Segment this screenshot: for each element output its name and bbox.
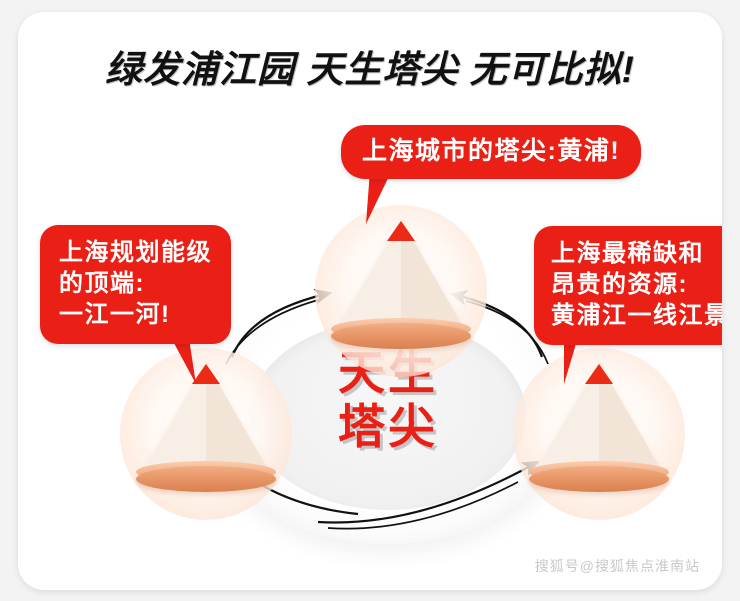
callout-left[interactable]: 上海规划能级 的顶端: 一江一河! (40, 225, 231, 344)
cone-right (513, 348, 685, 520)
page-title: 绿发浦江园 天生塔尖 无可比拟! (18, 48, 722, 92)
cone-tip-icon (387, 221, 415, 241)
watermark: 搜狐号@搜狐焦点淮南站 (535, 556, 700, 576)
cone-base-icon (529, 466, 669, 492)
callout-right-line-3: 黄浦江一线江景! (551, 300, 722, 331)
callout-top[interactable]: 上海城市的塔尖:黄浦! (341, 125, 641, 179)
callout-top-line-1: 上海城市的塔尖:黄浦! (362, 136, 620, 166)
cone-left (120, 348, 292, 520)
infographic-canvas: 绿发浦江园 天生塔尖 无可比拟! 天生 塔尖 (0, 0, 740, 601)
callout-right-line-1: 上海最稀缺和 (551, 238, 722, 269)
cone-base-icon (331, 323, 471, 349)
callout-left-line-1: 上海规划能级 (59, 237, 212, 268)
cone-tip-icon (585, 364, 613, 384)
callout-right[interactable]: 上海最稀缺和 昂贵的资源: 黄浦江一线江景! (534, 226, 722, 345)
cone-base-icon (136, 466, 276, 492)
cone-tip-icon (192, 364, 220, 384)
callout-left-line-3: 一江一河! (59, 299, 212, 330)
callout-left-line-2: 的顶端: (59, 268, 212, 299)
content-card: 绿发浦江园 天生塔尖 无可比拟! 天生 塔尖 (18, 12, 722, 590)
cone-top (315, 205, 487, 377)
callout-right-line-2: 昂贵的资源: (551, 269, 722, 300)
